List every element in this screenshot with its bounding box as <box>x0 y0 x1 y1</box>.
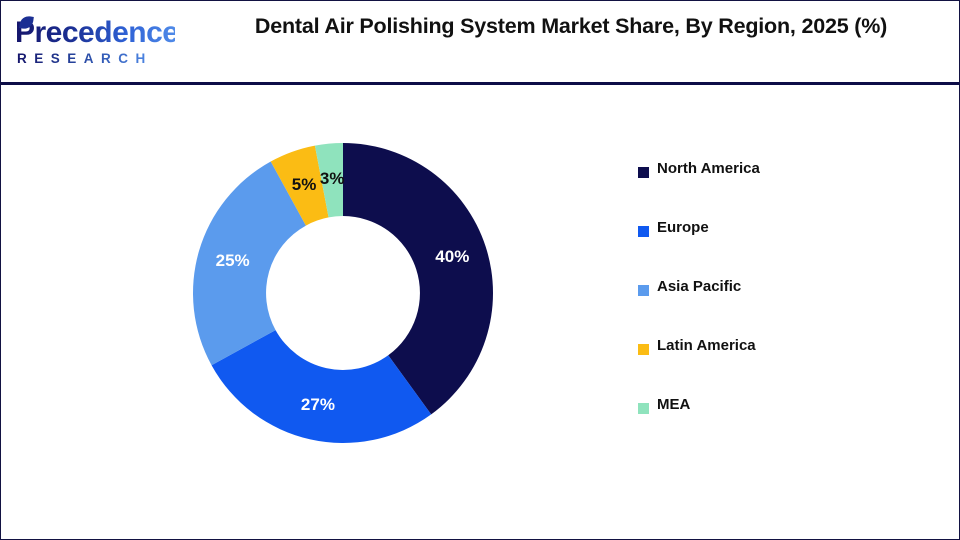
legend-swatch-icon <box>638 226 649 237</box>
infographic-card: Precedence RESEARCH Dental Air Polishing… <box>0 0 960 540</box>
legend-swatch-icon <box>638 167 649 178</box>
legend-item-label: North America <box>657 160 760 177</box>
donut-slices <box>193 143 493 443</box>
chart-title: Dental Air Polishing System Market Share… <box>231 11 911 42</box>
legend-item[interactable]: Latin America <box>638 340 888 399</box>
legend-item-label: Latin America <box>657 337 756 354</box>
legend-swatch-icon <box>638 403 649 414</box>
chart-legend: North AmericaEuropeAsia PacificLatin Ame… <box>638 163 888 458</box>
donut-chart: 40%27%25%5%3% <box>193 143 493 443</box>
legend-item[interactable]: North America <box>638 163 888 222</box>
legend-item-label: Asia Pacific <box>657 278 741 295</box>
chart-body: 40%27%25%5%3% North AmericaEuropeAsia Pa… <box>1 85 959 539</box>
legend-item[interactable]: Asia Pacific <box>638 281 888 340</box>
precedence-research-logo: Precedence RESEARCH <box>15 15 175 71</box>
donut-svg <box>193 143 493 443</box>
header-bar: Precedence RESEARCH Dental Air Polishing… <box>1 1 959 85</box>
legend-swatch-icon <box>638 344 649 355</box>
legend-item-label: MEA <box>657 396 690 413</box>
legend-swatch-icon <box>638 285 649 296</box>
legend-item[interactable]: MEA <box>638 399 888 458</box>
logo-subtitle: RESEARCH <box>17 51 153 67</box>
logo-wordmark: Precedence <box>15 15 175 51</box>
legend-item-label: Europe <box>657 219 709 236</box>
legend-item[interactable]: Europe <box>638 222 888 281</box>
